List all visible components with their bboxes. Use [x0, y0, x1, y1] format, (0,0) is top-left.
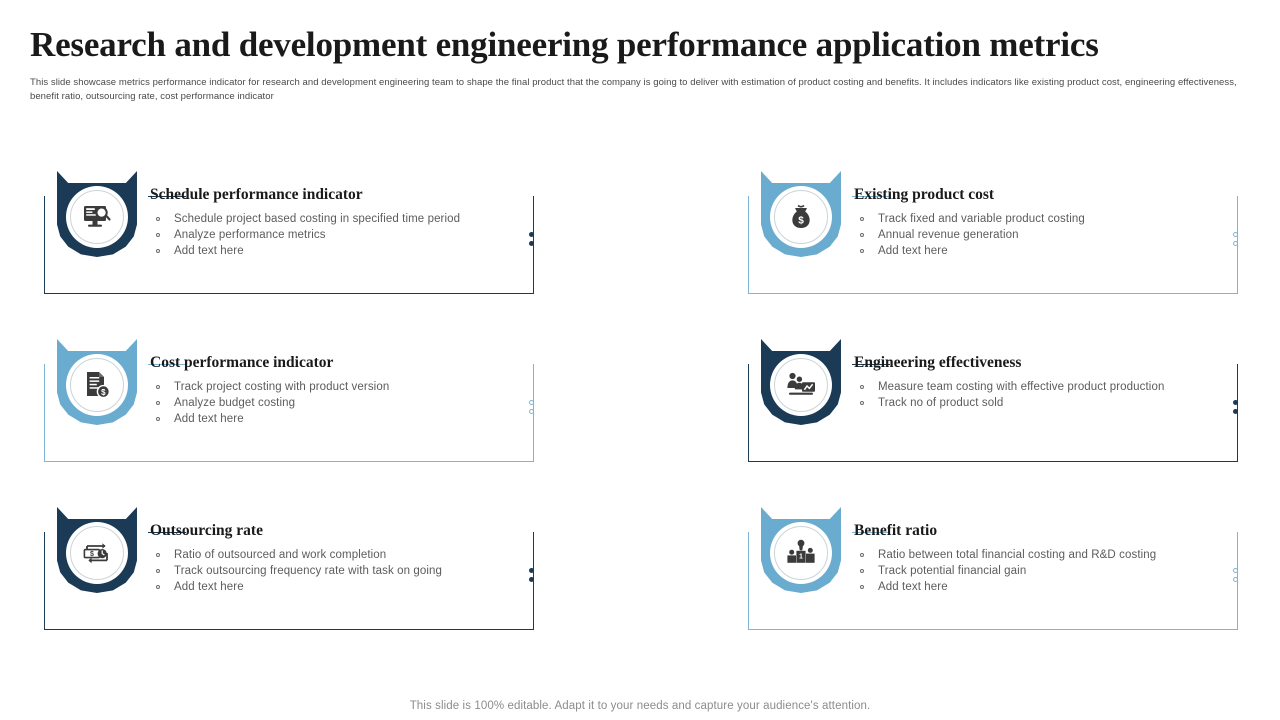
- card-bullet-list: Ratio between total financial costing an…: [854, 547, 1156, 596]
- card-badge: $: [761, 171, 841, 257]
- card-title: Cost performance indicator: [150, 353, 333, 373]
- money-bag-icon: $: [782, 198, 820, 236]
- card-bullet-list: Measure team costing with effective prod…: [854, 379, 1164, 411]
- card-bullet-item: Add text here: [854, 579, 1156, 595]
- card-bullet-list: Track fixed and variable product costing…: [854, 211, 1085, 260]
- card-title: Schedule performance indicator: [150, 185, 363, 205]
- card-bullet-item: Ratio between total financial costing an…: [854, 547, 1156, 563]
- card-bullet-item: Schedule project based costing in specif…: [150, 211, 460, 227]
- card-bullet-item: Add text here: [150, 411, 389, 427]
- card-bullet-item: Track project costing with product versi…: [150, 379, 389, 395]
- svg-text:$: $: [101, 388, 106, 397]
- card-connector-dots: [1233, 232, 1243, 254]
- card-badge: [57, 171, 137, 257]
- card-bullet-item: Ratio of outsourced and work completion: [150, 547, 442, 563]
- card-badge: [761, 339, 841, 425]
- badge-disc: $: [66, 354, 128, 416]
- connector-dot: [1233, 241, 1238, 246]
- card-bullet-item: Annual revenue generation: [854, 227, 1085, 243]
- connector-dot: [529, 241, 534, 246]
- card-title: Existing product cost: [854, 185, 994, 205]
- svg-text:1: 1: [799, 553, 803, 560]
- connector-dot: [529, 400, 534, 405]
- monitor-search-icon: [78, 198, 116, 236]
- badge-disc: [66, 186, 128, 248]
- card-badge: $: [57, 339, 137, 425]
- card-bullet-item: Track outsourcing frequency rate with ta…: [150, 563, 442, 579]
- card-bullet-list: Ratio of outsourced and work completionT…: [150, 547, 442, 596]
- connector-dot: [529, 232, 534, 237]
- card-bullet-item: Track fixed and variable product costing: [854, 211, 1085, 227]
- card-bullet-item: Analyze performance metrics: [150, 227, 460, 243]
- document-dollar-icon: $: [78, 366, 116, 404]
- badge-disc: 1: [770, 522, 832, 584]
- card-connector-dots: [1233, 400, 1243, 422]
- card-connector-dots: [529, 400, 539, 422]
- metric-card-engineering-effectiveness[interactable]: Engineering effectivenessMeasure team co…: [748, 339, 1240, 464]
- card-connector-dots: [529, 232, 539, 254]
- card-badge: 1: [761, 507, 841, 593]
- svg-text:$: $: [90, 551, 94, 558]
- connector-dot: [1233, 232, 1238, 237]
- connector-dot: [529, 568, 534, 573]
- connector-dot: [1233, 577, 1238, 582]
- card-connector-dots: [529, 568, 539, 590]
- metric-card-cost-performance-indicator[interactable]: $ Cost performance indicatorTrack projec…: [44, 339, 536, 464]
- badge-disc: [770, 354, 832, 416]
- card-bullet-item: Analyze budget costing: [150, 395, 389, 411]
- metric-card-existing-product-cost[interactable]: $ Existing product costTrack fixed and v…: [748, 171, 1240, 296]
- card-bullet-item: Track no of product sold: [854, 395, 1164, 411]
- connector-dot: [529, 409, 534, 414]
- page-subtitle: This slide showcase metrics performance …: [30, 76, 1252, 104]
- card-title: Outsourcing rate: [150, 521, 263, 541]
- money-cycle-icon: $: [78, 534, 116, 572]
- metric-card-benefit-ratio[interactable]: 1 Benefit ratioRatio between total finan…: [748, 507, 1240, 632]
- svg-text:$: $: [798, 216, 804, 227]
- connector-dot: [1233, 400, 1238, 405]
- card-title: Engineering effectiveness: [854, 353, 1021, 373]
- card-bullet-item: Add text here: [150, 243, 460, 259]
- metric-card-outsourcing-rate[interactable]: $ Outsourcing rateRatio of outsourced an…: [44, 507, 536, 632]
- card-connector-dots: [1233, 568, 1243, 590]
- card-bullet-item: Add text here: [854, 243, 1085, 259]
- card-bullet-item: Measure team costing with effective prod…: [854, 379, 1164, 395]
- card-bullet-list: Track project costing with product versi…: [150, 379, 389, 428]
- card-badge: $: [57, 507, 137, 593]
- card-bullet-item: Add text here: [150, 579, 442, 595]
- connector-dot: [1233, 409, 1238, 414]
- page-title: Research and development engineering per…: [30, 24, 1250, 66]
- connector-dot: [1233, 568, 1238, 573]
- badge-disc: $: [770, 186, 832, 248]
- podium-award-icon: 1: [782, 534, 820, 572]
- badge-disc: $: [66, 522, 128, 584]
- metric-card-schedule-performance-indicator[interactable]: Schedule performance indicatorSchedule p…: [44, 171, 536, 296]
- card-title: Benefit ratio: [854, 521, 937, 541]
- connector-dot: [529, 577, 534, 582]
- team-presentation-icon: [782, 366, 820, 404]
- card-bullet-item: Track potential financial gain: [854, 563, 1156, 579]
- card-bullet-list: Schedule project based costing in specif…: [150, 211, 460, 260]
- slide-footer-note: This slide is 100% editable. Adapt it to…: [0, 700, 1280, 712]
